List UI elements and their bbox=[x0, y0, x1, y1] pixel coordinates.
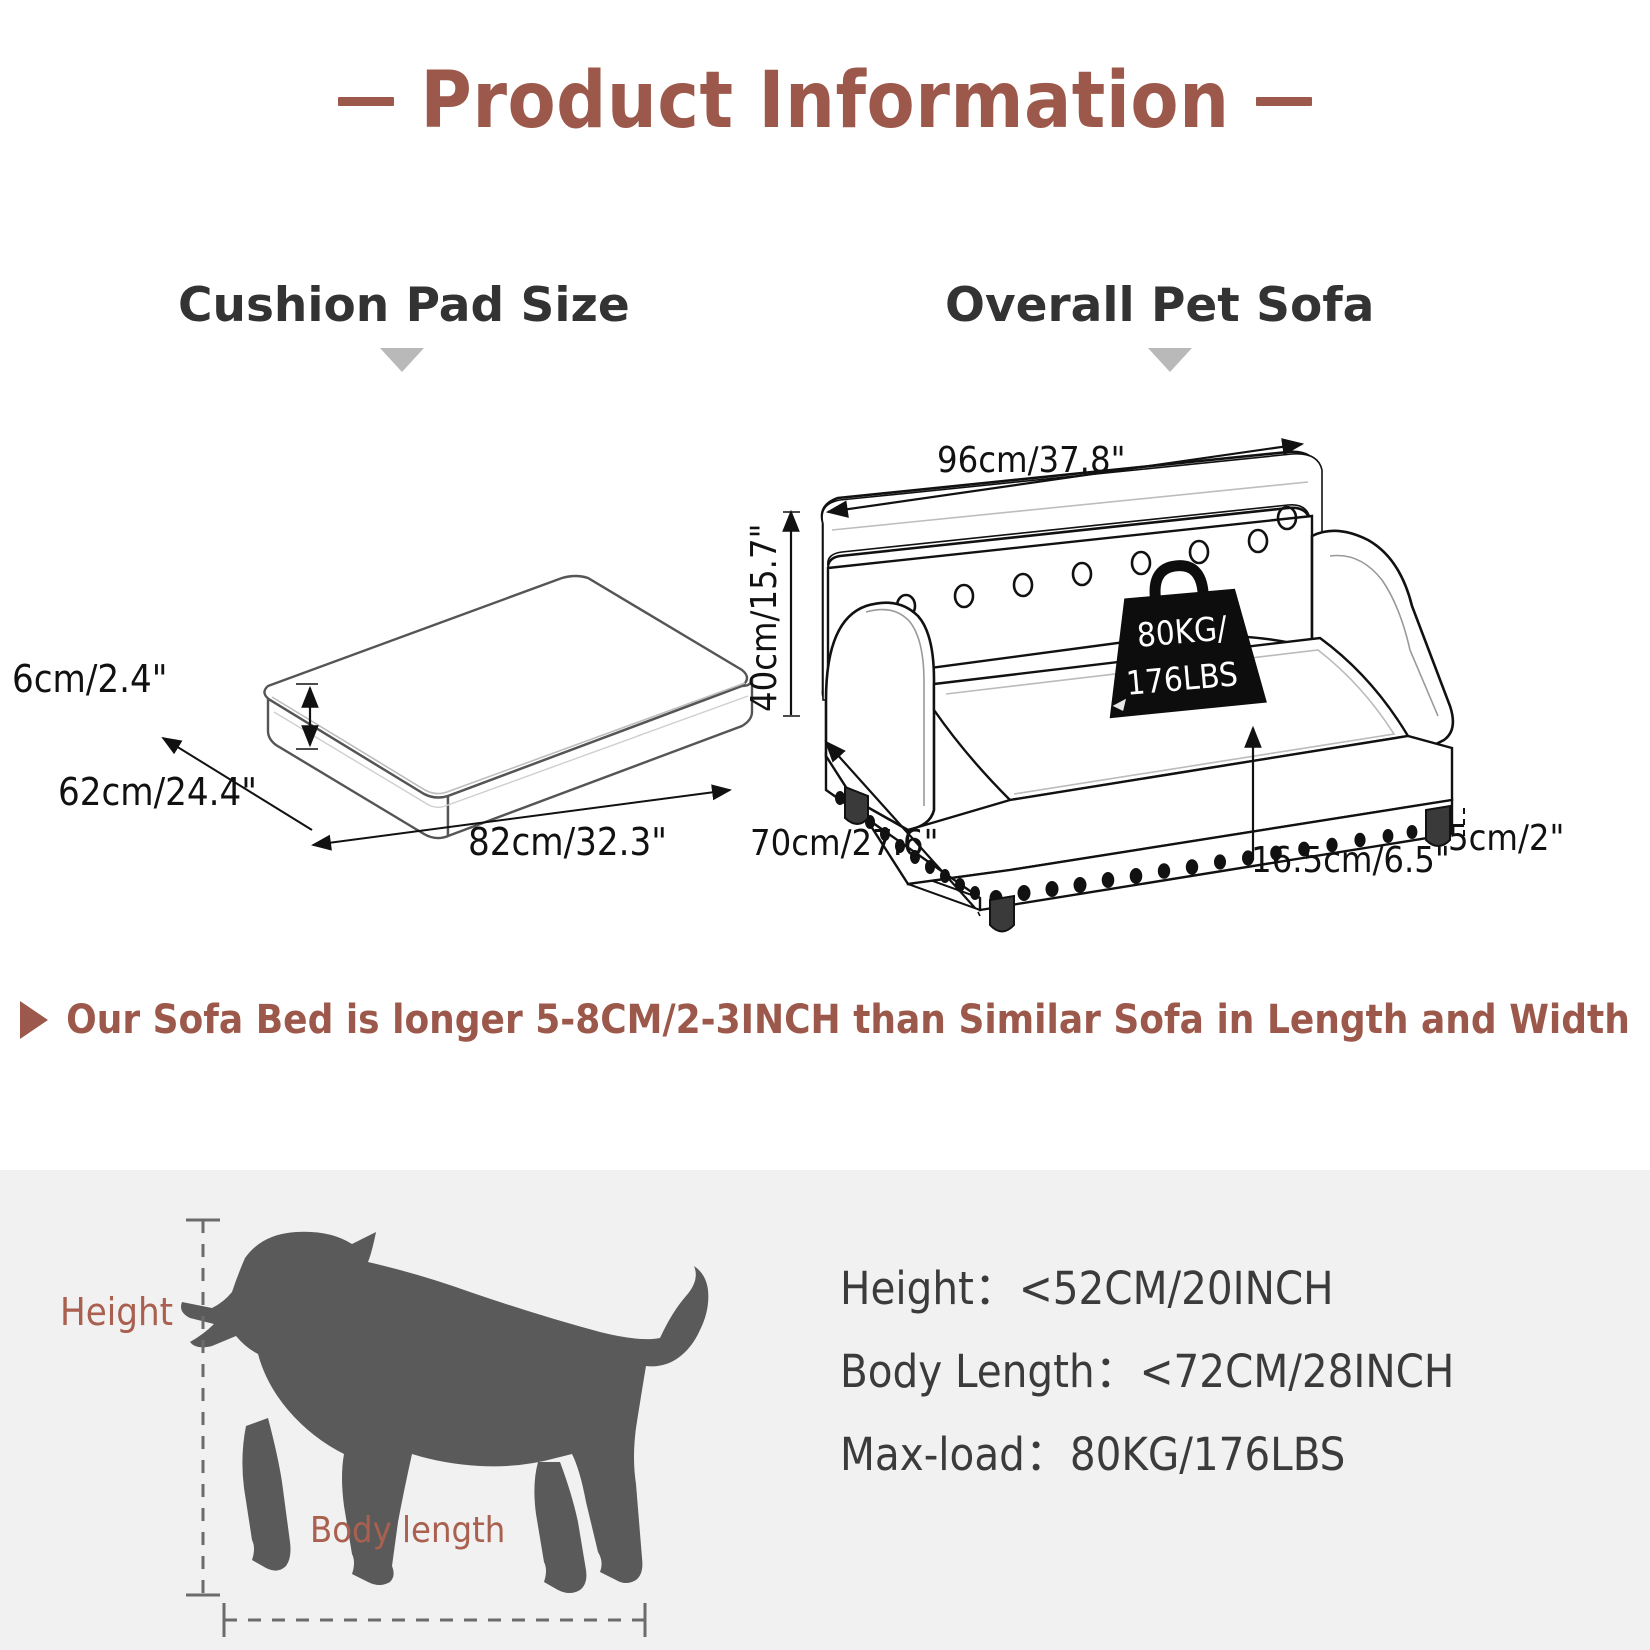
dog-body-length-label: Body length bbox=[310, 1510, 505, 1551]
product-information-page: Product Information Cushion Pad Size Ove… bbox=[0, 0, 1650, 1650]
dog-body-length-measure bbox=[224, 1603, 645, 1637]
diagrams-layer: 6cm/2.4" 62cm/24.4" 82cm/32.3" bbox=[0, 0, 1650, 1170]
weight-tag-line1: 80KG/ bbox=[1135, 608, 1228, 655]
banner-text: Our Sofa Bed is longer 5-8CM/2-3INCH tha… bbox=[66, 1000, 1630, 1040]
sofa-leg-height-label: 5cm/2" bbox=[1448, 818, 1564, 859]
spec-max-load: Max-load：80KG/176LBS bbox=[840, 1432, 1454, 1477]
sofa-width-label: 96cm/37.8" bbox=[937, 440, 1125, 481]
cushion-depth-label: 62cm/24.4" bbox=[58, 770, 257, 814]
sofa-height-label: 40cm/15.7" bbox=[744, 524, 785, 712]
dog-height-measure bbox=[186, 1220, 220, 1595]
sofa-depth-label: 70cm/27.6" bbox=[750, 823, 938, 864]
cushion-width-label: 82cm/32.3" bbox=[468, 820, 667, 864]
dog-height-label: Height bbox=[60, 1290, 173, 1334]
spec-body-length: Body Length：<72CM/28INCH bbox=[840, 1349, 1454, 1394]
cushion-pad-drawing bbox=[264, 576, 752, 838]
spec-height: Height：<52CM/20INCH bbox=[840, 1266, 1454, 1311]
sofa-seat-height-label: 16.5cm/6.5" bbox=[1251, 840, 1450, 881]
triangle-right-icon bbox=[20, 1001, 48, 1039]
dog-spec-list: Height：<52CM/20INCH Body Length：<72CM/28… bbox=[840, 1266, 1454, 1477]
cushion-thickness-label: 6cm/2.4" bbox=[12, 657, 167, 701]
top-section: Product Information Cushion Pad Size Ove… bbox=[0, 0, 1650, 1170]
comparison-banner: Our Sofa Bed is longer 5-8CM/2-3INCH tha… bbox=[0, 1000, 1650, 1040]
dog-size-section: Height：<52CM/20INCH Body Length：<72CM/28… bbox=[0, 1170, 1650, 1650]
